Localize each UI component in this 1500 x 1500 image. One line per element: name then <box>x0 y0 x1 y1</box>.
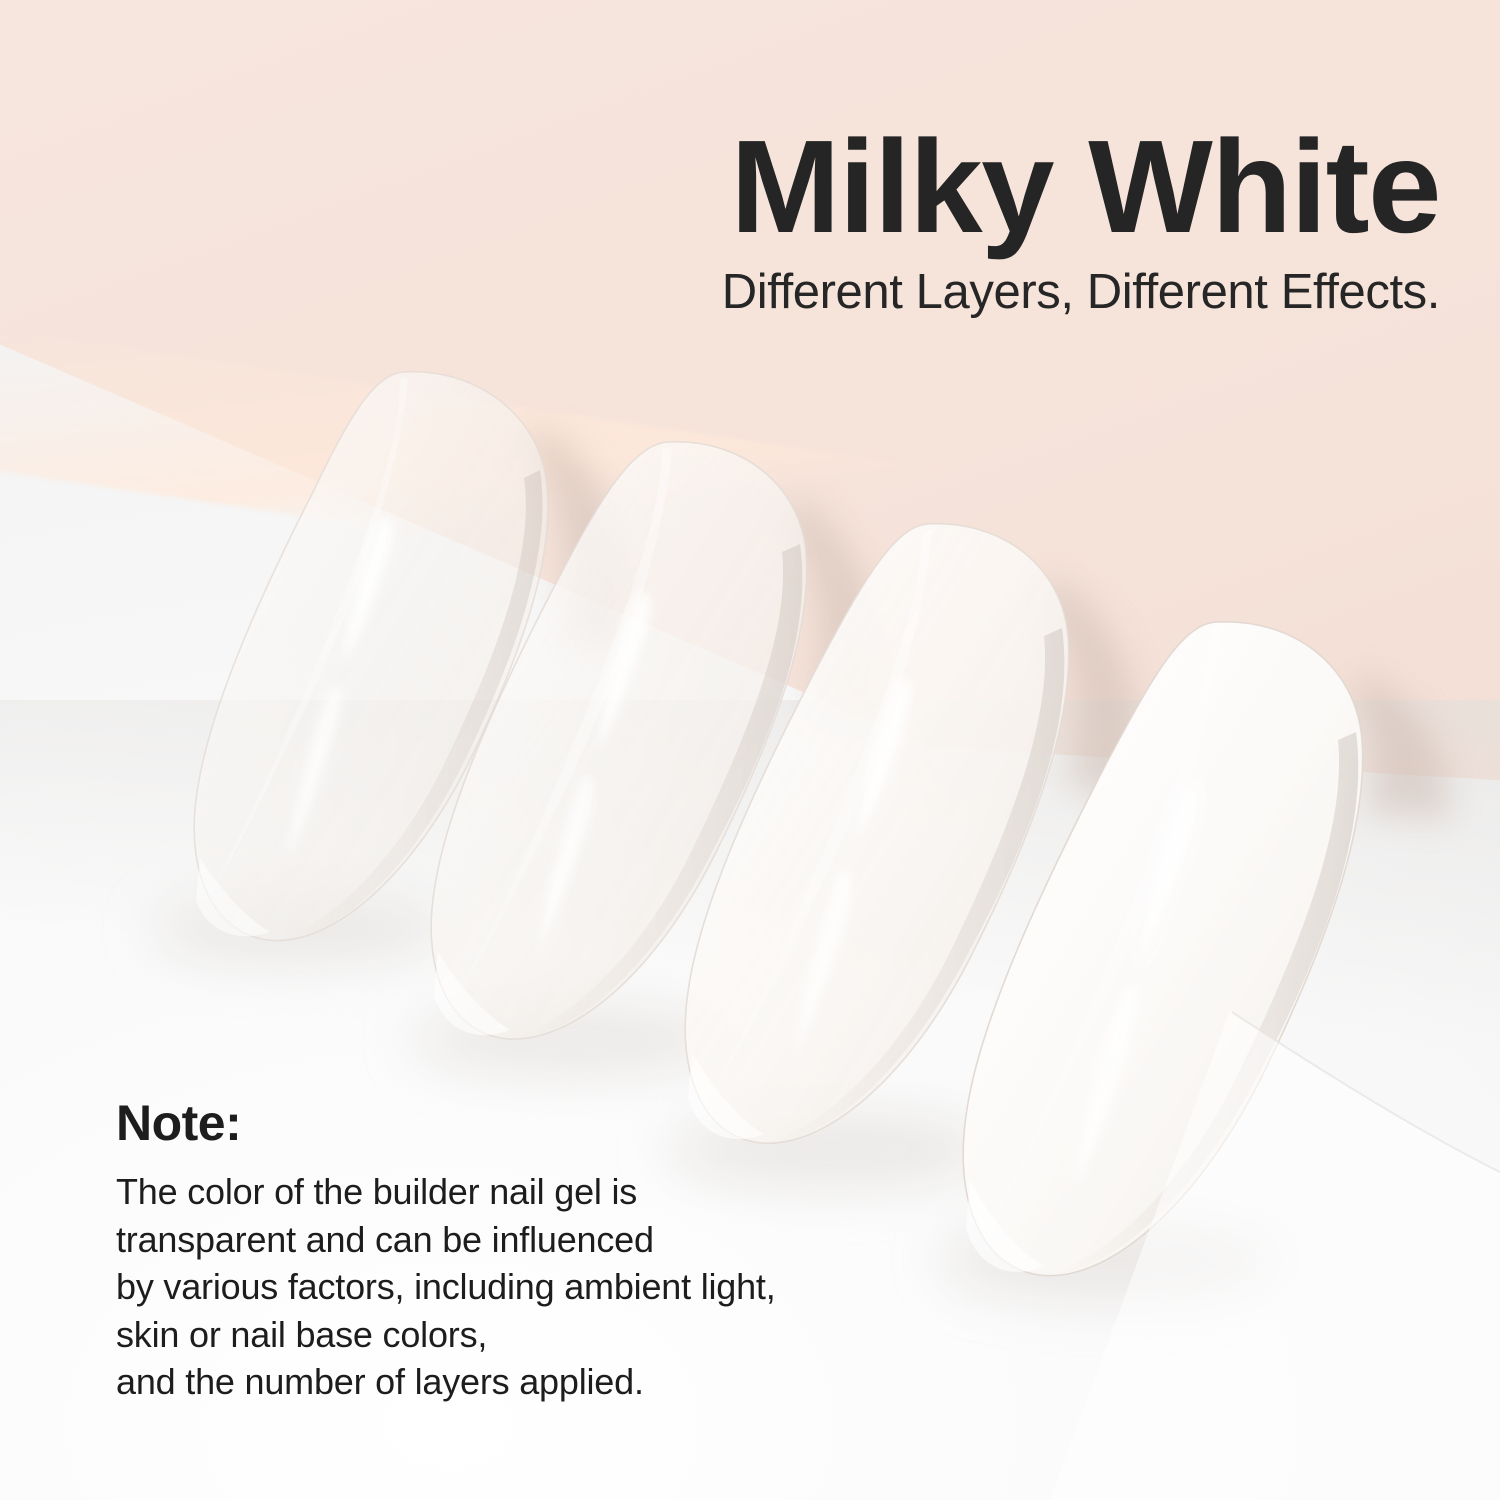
note-line: by various factors, including ambient li… <box>116 1263 1016 1311</box>
note-line: and the number of layers applied. <box>116 1358 1016 1406</box>
note-line: transparent and can be influenced <box>116 1216 1016 1264</box>
note-line: The color of the builder nail gel is <box>116 1168 1016 1216</box>
note-block: Note: The color of the builder nail gel … <box>116 1098 1016 1406</box>
note-body: The color of the builder nail gel is tra… <box>116 1168 1016 1406</box>
page-title: Milky White <box>60 120 1440 255</box>
note-line: skin or nail base colors, <box>116 1311 1016 1359</box>
page-subtitle: Different Layers, Different Effects. <box>60 267 1440 318</box>
product-graphic: Milky White Different Layers, Different … <box>0 0 1500 1500</box>
note-heading: Note: <box>116 1098 1016 1148</box>
headline-block: Milky White Different Layers, Different … <box>60 120 1440 318</box>
